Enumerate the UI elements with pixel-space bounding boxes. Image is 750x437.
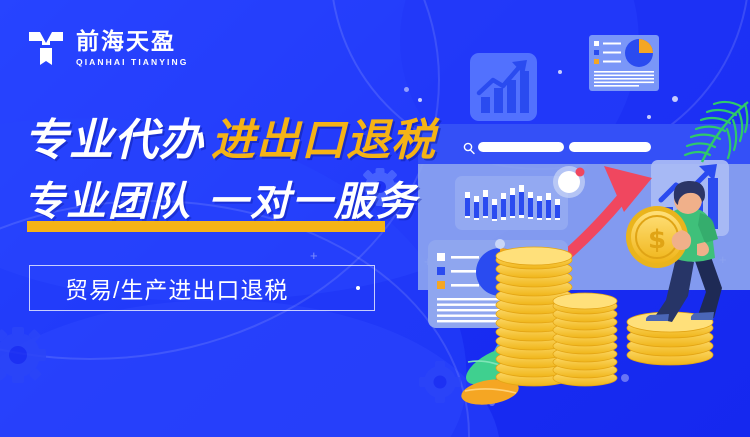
search-bar-2[interactable] xyxy=(569,142,651,152)
headline-part-tax-refund: 进出口退税 xyxy=(211,115,436,166)
logo-chinese-name: 前海天盈 xyxy=(76,29,188,53)
headline-line-2: 专业团队 一对一服务 xyxy=(24,182,418,222)
coin-stack-medium xyxy=(553,293,617,386)
svg-text:$: $ xyxy=(648,225,666,255)
subtitle-box[interactable]: 贸易/生产进出口退税 xyxy=(29,265,375,311)
headline-part-professional: 专业代办 xyxy=(24,115,204,166)
pie-report-card xyxy=(589,35,659,91)
gear-icon-bottom-right xyxy=(419,361,461,403)
notification-dot-icon xyxy=(576,168,585,177)
promo-banner: $ 前海天盈 QIANHAI TIANYING 专业代办进出口退税 专业团队 一… xyxy=(0,0,750,437)
gear-icon-bottom-left xyxy=(0,327,46,383)
subtitle-dot xyxy=(356,286,360,290)
bar-chart-growth-card xyxy=(470,53,537,121)
candlestick-chart-panel xyxy=(455,176,568,230)
brand-logo[interactable]: 前海天盈 QIANHAI TIANYING xyxy=(26,28,188,68)
qianhai-tianying-y-mark xyxy=(26,28,66,68)
subtitle-text: 贸易/生产进出口退税 xyxy=(65,271,288,305)
logo-english-name: QIANHAI TIANYING xyxy=(76,57,188,67)
search-bar-1[interactable] xyxy=(478,142,564,152)
headline-line-1: 专业代办进出口退税 xyxy=(24,119,436,163)
